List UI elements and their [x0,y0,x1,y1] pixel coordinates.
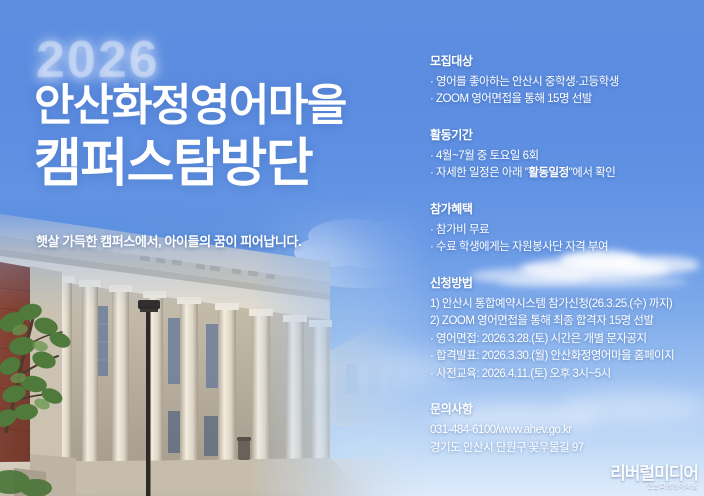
info-section-line: 1) 안산시 통합예약시스템 참가신청(26.3.25.(수) 까지) [430,296,698,313]
info-section-line: · 영어를 좋아하는 안산시 중학생·고등학생 [430,74,698,91]
info-section-line: · 영어면접: 2026.3.28.(토) 시간은 개별 문자공지 [430,331,698,348]
info-section-line: · 합격발표: 2026.3.30.(월) 안산화정영어마을 홈페이지 [430,348,698,365]
poster-canvas: 2026 안산화정영어마을 캠퍼스탐방단 햇살 가득한 캠퍼스에서, 아이들의 … [0,0,704,496]
info-section-heading: 활동기간 [430,126,698,143]
poster-year: 2026 [36,34,160,86]
info-section-line: · 4월~7월 중 토요일 6회 [430,148,698,165]
info-section-line: 031-484-6100/www.ahev.go.kr [430,422,698,439]
poster-tagline: 햇살 가득한 캠퍼스에서, 아이들의 꿈이 피어납니다. [36,231,301,250]
info-emphasis: 활동일정 [528,167,568,179]
info-section-heading: 모집대상 [430,52,698,69]
info-section-line: · 사전교육: 2026.4.11.(토) 오후 3시~5시 [430,366,698,383]
info-section-how-to-apply: 신청방법1) 안산시 통합예약시스템 참가신청(26.3.25.(수) 까지)2… [430,274,698,383]
info-section-activity-period: 활동기간· 4월~7월 중 토요일 6회· 자세한 일정은 아래 "활동일정"에… [430,126,698,183]
info-section-heading: 참가혜택 [430,200,698,217]
info-column: 모집대상· 영어를 좋아하는 안산시 중학생·고등학생· ZOOM 영어면접을 … [430,52,698,457]
info-section-line: 2) ZOOM 영어면접을 통해 최종 합격자 15명 선발 [430,313,698,330]
info-section-heading: 문의사항 [430,400,698,417]
info-section-line: · 수료 학생에게는 자원봉사단 자격 부여 [430,239,698,256]
info-section-line: 경기도 안산시 단원구 꽃우물길 97 [430,440,698,457]
watermark-logo: 리버럴미디어 안산화정영어마을 [610,465,698,491]
poster-title-line2: 캠퍼스탐방단 [34,138,312,190]
info-section-line: · 자세한 일정은 아래 "활동일정"에서 확인 [430,165,698,182]
watermark-sub-text: 안산화정영어마을 [610,484,698,491]
info-section-line: · ZOOM 영어면접을 통해 15명 선발 [430,91,698,108]
info-section-benefits: 참가혜택· 참가비 무료· 수료 학생에게는 자원봉사단 자격 부여 [430,200,698,257]
poster-title-line1: 안산화정영어마을 [34,84,346,128]
watermark-main-text: 리버럴미디어 [610,465,698,482]
info-section-contact: 문의사항031-484-6100/www.ahev.go.kr경기도 안산시 단… [430,400,698,457]
info-section-heading: 신청방법 [430,274,698,291]
info-section-recruit-target: 모집대상· 영어를 좋아하는 안산시 중학생·고등학생· ZOOM 영어면접을 … [430,52,698,109]
info-section-line: · 참가비 무료 [430,222,698,239]
